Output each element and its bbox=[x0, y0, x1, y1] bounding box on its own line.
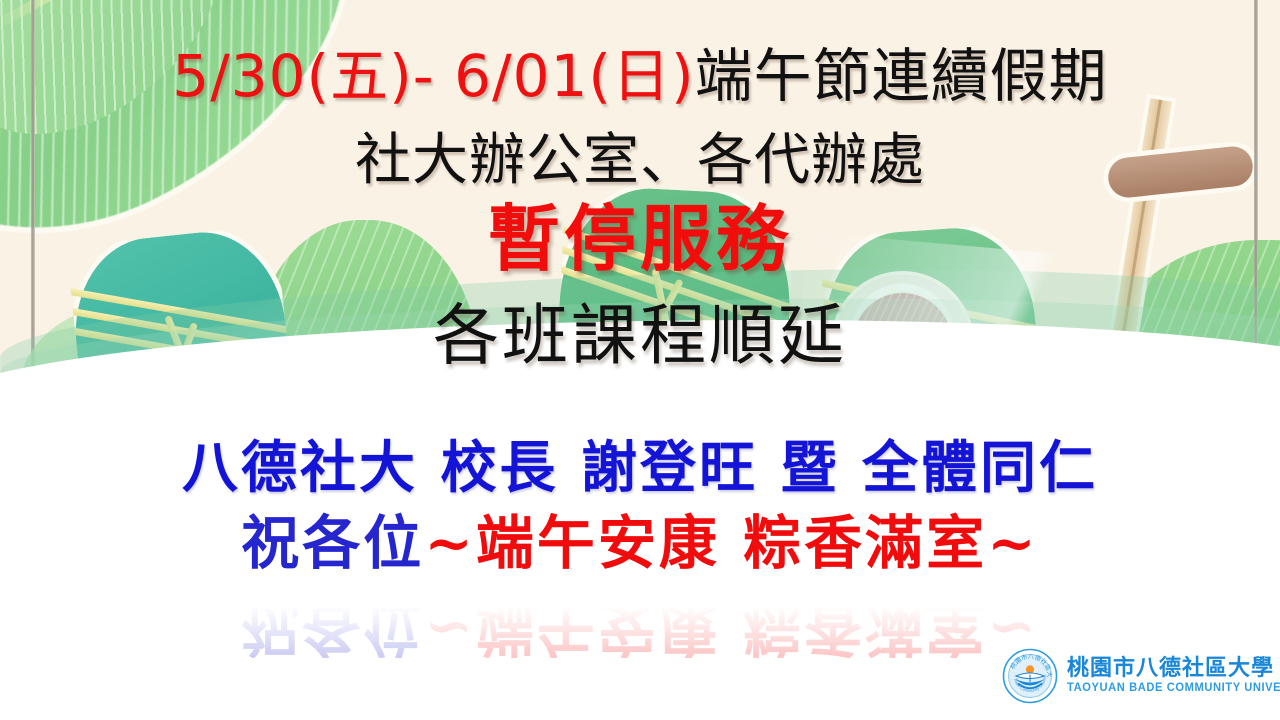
logo-text-block: 桃園市八德社區大學 TAOYUAN BADE COMMUNITY UNIVERS… bbox=[1067, 657, 1280, 696]
greeting-wish-prefix: 祝各位 bbox=[241, 509, 424, 577]
greeting-block: 八德社大 校長 謝登旺 暨 全體同仁 祝各位~端午安康 粽香滿室~ bbox=[0, 440, 1280, 572]
announcement-classes-postponed: 各班課程順延 bbox=[0, 303, 1280, 369]
logo-english-name: TAOYUAN BADE COMMUNITY UNIVERSITY bbox=[1067, 682, 1280, 696]
logo-chinese-name: 桃園市八德社區大學 bbox=[1067, 657, 1280, 680]
greeting-reflection-text: ~端午安康 粽香滿室~ bbox=[424, 595, 1038, 663]
holiday-date-range: 5/30(五)- 6/01(日) bbox=[172, 42, 694, 110]
university-emblem-icon: 桃園市八德社區大學 Bade Community University bbox=[1002, 648, 1058, 704]
announcement-line-1: 5/30(五)- 6/01(日)端午節連續假期 bbox=[0, 47, 1280, 105]
announcement-service-suspended: 暫停服務 bbox=[0, 203, 1280, 275]
greeting-reflection-prefix: 祝各位 bbox=[241, 595, 424, 663]
greeting-signature: 八德社大 校長 謝登旺 暨 全體同仁 bbox=[0, 440, 1280, 496]
emblem-svg: 桃園市八德社區大學 Bade Community University bbox=[1002, 648, 1058, 704]
poster-canvas: 5/30(五)- 6/01(日)端午節連續假期 社大辦公室、各代辦處 暫停服務 … bbox=[0, 0, 1280, 720]
university-logo: 桃園市八德社區大學 Bade Community University 桃園市八… bbox=[1002, 648, 1280, 704]
greeting-wish: 祝各位~端午安康 粽香滿室~ bbox=[0, 514, 1280, 572]
announcement-line-2: 社大辦公室、各代辦處 bbox=[0, 133, 1280, 189]
holiday-name: 端午節連續假期 bbox=[695, 42, 1108, 110]
greeting-wish-text: ~端午安康 粽香滿室~ bbox=[424, 509, 1038, 577]
